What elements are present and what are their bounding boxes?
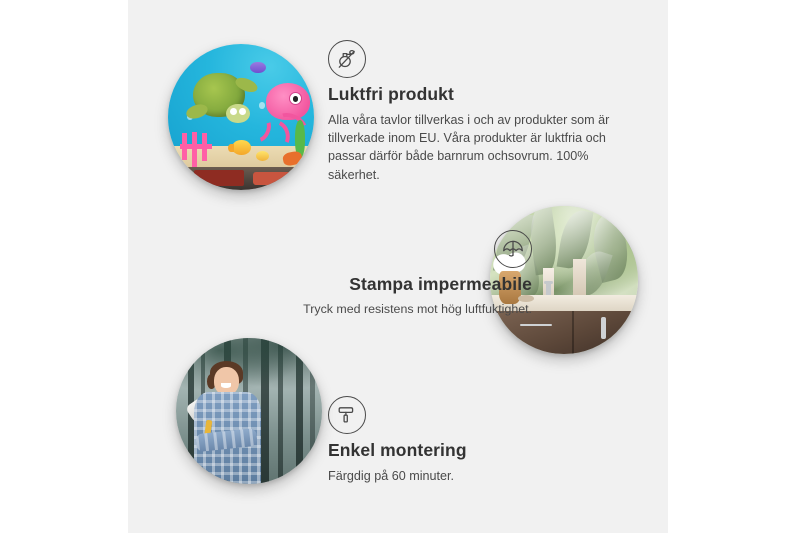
woman-smile — [221, 383, 231, 387]
feature-waterproof: Stampa impermeabile Tryck med resistens … — [198, 230, 532, 319]
feature-description: Alla våra tavlor tillverkas i och av pro… — [328, 111, 628, 184]
feature-assembly: Enkel montering Färgdig på 60 minuter. — [328, 396, 628, 485]
feature-odourless: Luktfri produkt Alla våra tavlor tillver… — [328, 40, 628, 184]
no-fragrance-icon — [328, 40, 366, 78]
screenshot-stage: Luktfri produkt Alla våra tavlor tillver… — [0, 0, 800, 533]
pink-coral — [180, 132, 212, 167]
feature-description: Tryck med resistens mot hög luftfuktighe… — [198, 301, 532, 319]
umbrella-icon — [494, 230, 532, 268]
forest-canopy — [176, 338, 322, 399]
forest-scene-art — [176, 338, 322, 484]
feature-title: Stampa impermeabile — [198, 274, 532, 296]
door-handle — [601, 317, 607, 339]
feature-description: Färgdig på 60 minuter. — [328, 467, 628, 485]
turtle-head — [226, 104, 249, 123]
room-furniture-strip — [168, 167, 314, 190]
feature-assembly-icon-wrap — [328, 396, 628, 434]
drawer-handle — [520, 324, 552, 326]
woman-face — [214, 367, 239, 395]
yellow-fish-icon — [256, 151, 269, 161]
product-feature-banner: Luktfri produkt Alla våra tavlor tillver… — [128, 0, 668, 533]
underwater-scene-art — [168, 44, 314, 190]
painter-forest-mural-photo — [176, 338, 322, 484]
feature-title: Luktfri produkt — [328, 84, 628, 106]
paint-roller-icon — [328, 396, 366, 434]
purple-fish-icon — [250, 62, 266, 74]
feature-waterproof-icon-wrap — [198, 230, 532, 268]
feature-odourless-icon-wrap — [328, 40, 628, 78]
feature-title: Enkel montering — [328, 440, 628, 462]
underwater-kids-mural-photo — [168, 44, 314, 190]
yellow-fish-icon — [232, 140, 251, 155]
toiletry-bottle — [573, 259, 586, 295]
cabinet-seam — [572, 311, 574, 354]
bubble-icon — [259, 102, 266, 109]
